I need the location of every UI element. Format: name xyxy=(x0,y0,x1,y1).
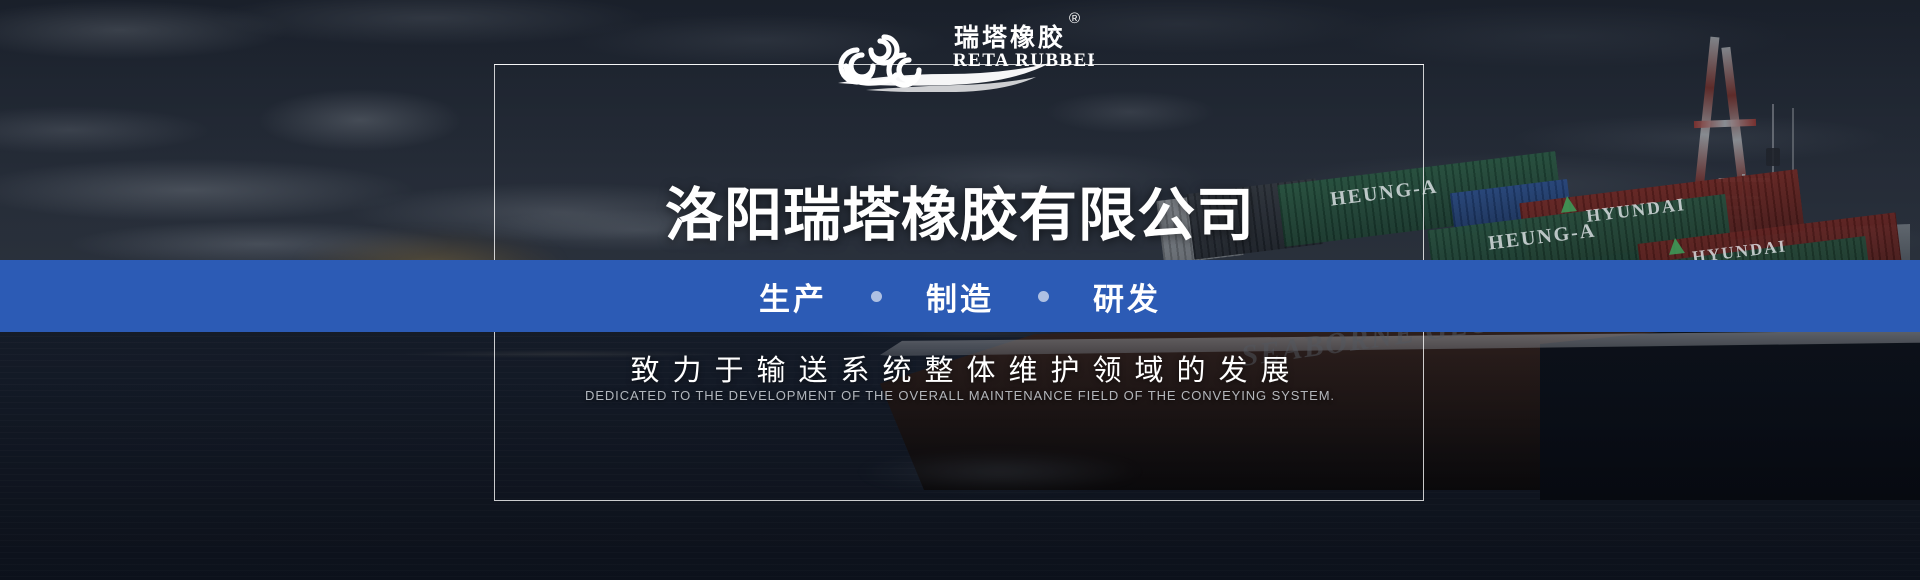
logo-cn-text: 瑞塔橡胶 xyxy=(954,23,1066,52)
keyword-item-rnd: 研发 xyxy=(1093,274,1161,319)
tagline-english: DEDICATED TO THE DEVELOPMENT OF THE OVER… xyxy=(0,388,1920,403)
keyword-item-manufacturing: 制造 xyxy=(926,274,994,319)
dot-separator-icon-1 xyxy=(871,291,882,302)
page-title: 洛阳瑞塔橡胶有限公司 xyxy=(0,182,1920,250)
dot-separator-icon-2 xyxy=(1038,291,1049,302)
keyword-item-production: 生产 xyxy=(759,274,827,319)
keyword-band: 生产 制造 研发 xyxy=(0,260,1920,332)
tagline-chinese: 致力于输送系统整体维护领域的发展 xyxy=(0,347,1920,389)
company-logo[interactable]: 瑞塔橡胶 ® RETA RUBBER xyxy=(826,6,1094,92)
registered-mark-icon: ® xyxy=(1069,10,1080,27)
hero-banner: HEUNG-A HEUNG-A HYUNDAI HYUNDAI SEABORNE… xyxy=(0,0,1920,580)
logo-en-text: RETA RUBBER xyxy=(953,50,1094,71)
